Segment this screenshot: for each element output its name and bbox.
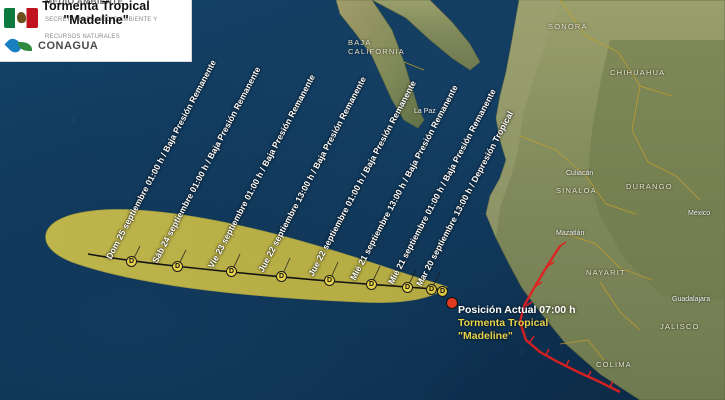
conagua-logo-row: CONAGUA xyxy=(4,33,187,59)
track-point-7[interactable]: D xyxy=(402,282,413,293)
state-label-colima: COLIMA xyxy=(596,360,632,369)
track-point-9[interactable]: D xyxy=(437,286,448,297)
track-point-6[interactable]: D xyxy=(366,279,377,290)
state-label-durango: DURANGO xyxy=(626,182,673,191)
state-label-baja-california: BAJA CALIFORNIA xyxy=(348,38,405,56)
state-label-nayarit: NAYARIT xyxy=(586,268,626,277)
city-label-mexico: México xyxy=(688,210,710,217)
track-point-4[interactable]: D xyxy=(276,271,287,282)
track-point-2[interactable]: D xyxy=(172,261,183,272)
agency-line3: CONAGUA xyxy=(38,40,98,52)
current-position-line1: Posición Actual 07:00 h xyxy=(458,304,575,317)
title-line1: Tormenta Tropical xyxy=(0,0,192,14)
title-line2: "Madeline" xyxy=(0,14,192,28)
current-position-label: Posición Actual 07:00 h Tormenta Tropica… xyxy=(458,304,575,343)
track-point-5[interactable]: D xyxy=(324,275,335,286)
page-title: Tormenta Tropical "Madeline" xyxy=(0,0,192,28)
track-point-1[interactable]: D xyxy=(126,256,137,267)
state-label-baja-line1: BAJA xyxy=(348,38,372,47)
track-point-3[interactable]: D xyxy=(226,266,237,277)
water-drop-icon xyxy=(6,36,34,56)
city-label-mazatlan: Mazatlán xyxy=(556,230,584,237)
current-position-marker[interactable] xyxy=(446,297,458,309)
current-position-line3: "Madeline" xyxy=(458,330,575,343)
state-label-jalisco: JALISCO xyxy=(660,322,700,331)
city-label-la-paz: La Paz xyxy=(414,108,436,115)
state-label-baja-line2: CALIFORNIA xyxy=(348,47,405,56)
state-label-sinaloa: SINALOA xyxy=(556,186,597,195)
state-label-chihuahua: CHIHUAHUA xyxy=(610,68,665,77)
city-label-culiacan: Culiacán xyxy=(566,170,593,177)
track-point-8[interactable]: D xyxy=(426,284,437,295)
hurricane-forecast-map: MEDIO AMBIENTE SECRETARÍA DE MEDIO AMBIE… xyxy=(0,0,725,400)
current-position-line2: Tormenta Tropical xyxy=(458,317,575,330)
state-label-sonora: SONORA xyxy=(548,22,588,31)
city-label-guadalajara: Guadalajara xyxy=(672,296,710,303)
